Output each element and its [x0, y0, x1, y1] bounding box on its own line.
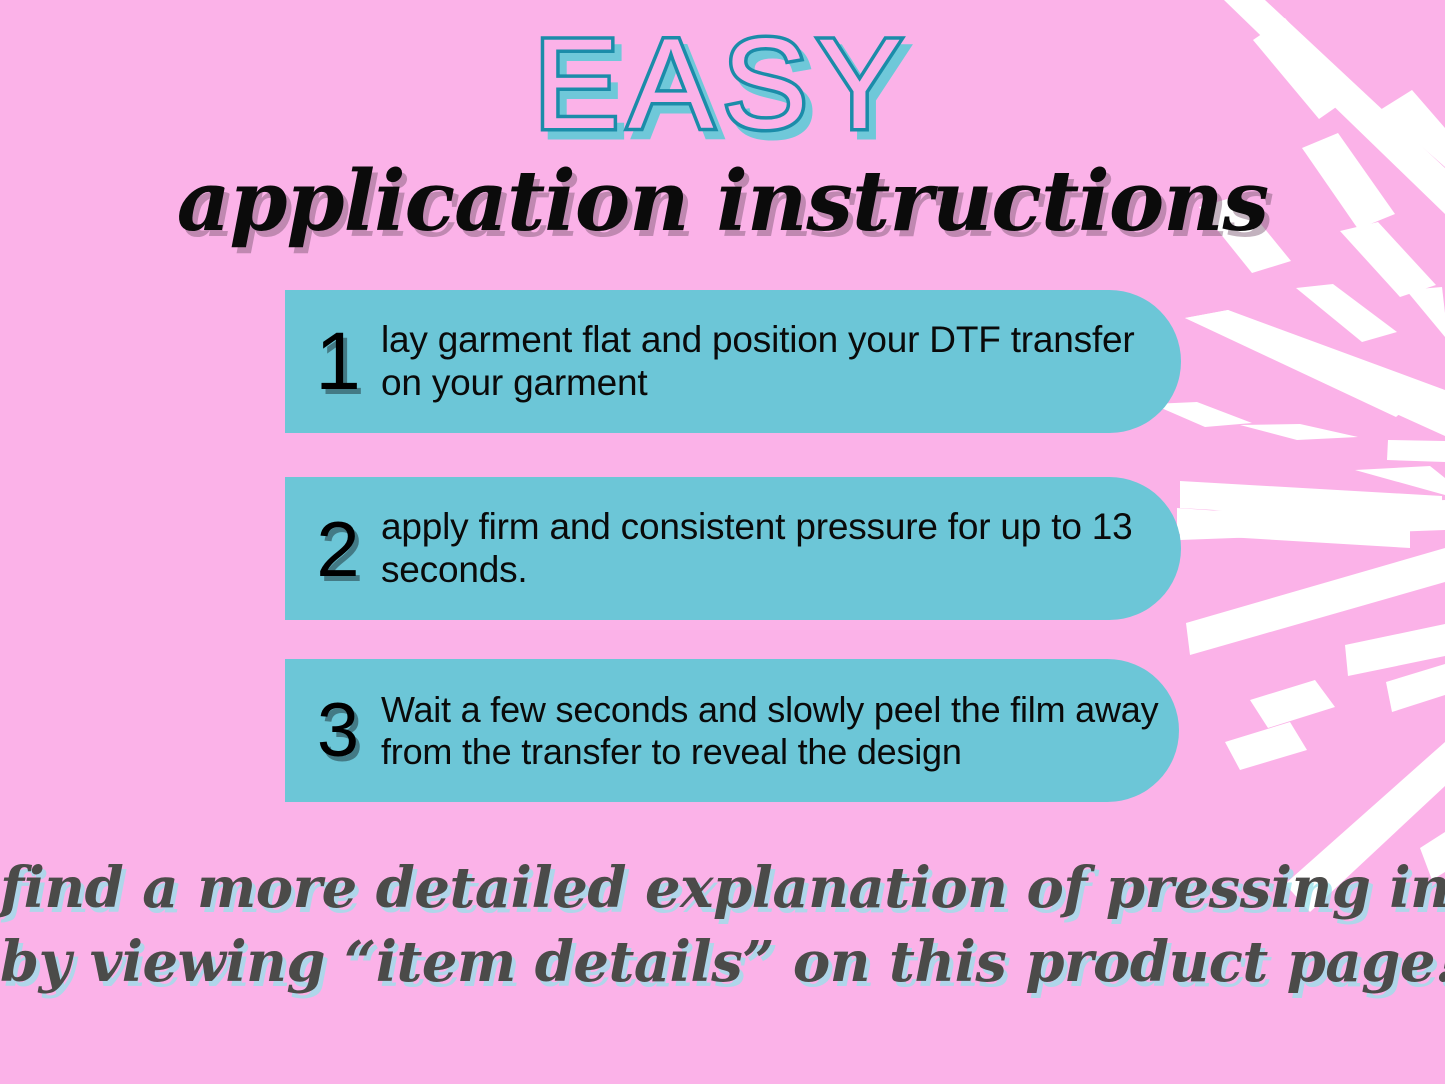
headline-easy: EASY EASY	[0, 18, 1445, 152]
step-pill-1: 1 lay garment flat and position your DTF…	[285, 290, 1181, 433]
footer-container: find a more detailed explanation of pres…	[0, 852, 1445, 1000]
headline-easy-outline: EASY	[534, 13, 912, 156]
step-text-1: lay garment flat and position your DTF t…	[381, 319, 1181, 405]
subtitle-application-instructions: application instructions	[177, 152, 1269, 250]
step-number-3: 3	[307, 693, 369, 769]
footer-line-2: by viewing “item details” on this produc…	[0, 926, 1445, 1000]
footer-line-1: find a more detailed explanation of pres…	[0, 852, 1445, 926]
step-number-1: 1	[307, 321, 369, 403]
step-number-2: 2	[307, 510, 369, 588]
step-text-2: apply firm and consistent pressure for u…	[381, 506, 1181, 592]
step-pill-2: 2 apply firm and consistent pressure for…	[285, 477, 1181, 620]
subtitle-container: application instructions	[0, 152, 1445, 250]
step-pill-3: 3 Wait a few seconds and slowly peel the…	[285, 659, 1179, 802]
step-text-3: Wait a few seconds and slowly peel the f…	[381, 689, 1179, 773]
poster-canvas: EASY EASY application instructions 1 lay…	[0, 0, 1445, 1084]
